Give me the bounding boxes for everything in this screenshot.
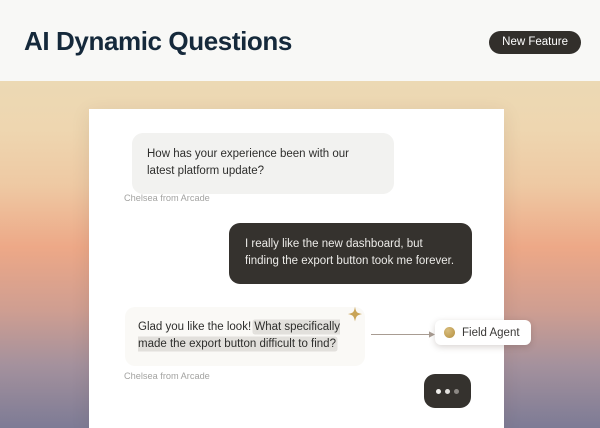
chat-bubble-user-1: I really like the new dashboard, but fin… xyxy=(229,223,472,284)
page-title: AI Dynamic Questions xyxy=(24,26,292,57)
page-header: AI Dynamic Questions New Feature xyxy=(0,0,600,81)
message-plain-text: Glad you like the look! xyxy=(138,321,251,333)
field-agent-label: Field Agent xyxy=(462,327,520,339)
typing-indicator xyxy=(424,374,471,408)
chat-bubble-agent-2: Glad you like the look! What specificall… xyxy=(125,307,365,366)
typing-dot xyxy=(454,389,459,394)
chat-bubble-agent-1: How has your experience been with our la… xyxy=(132,133,394,194)
new-feature-badge: New Feature xyxy=(489,31,581,54)
field-agent-chip[interactable]: Field Agent xyxy=(435,320,531,345)
message-author-1: Chelsea from Arcade xyxy=(124,193,210,203)
sparkle-icon xyxy=(347,306,363,322)
typing-dot xyxy=(445,389,450,394)
app-root: AI Dynamic Questions New Feature How has… xyxy=(0,0,600,428)
annotation-arrow-icon xyxy=(371,326,437,335)
chat-card: How has your experience been with our la… xyxy=(89,109,504,428)
typing-dot xyxy=(436,389,441,394)
message-author-2: Chelsea from Arcade xyxy=(124,371,210,381)
agent-status-dot-icon xyxy=(444,327,455,338)
